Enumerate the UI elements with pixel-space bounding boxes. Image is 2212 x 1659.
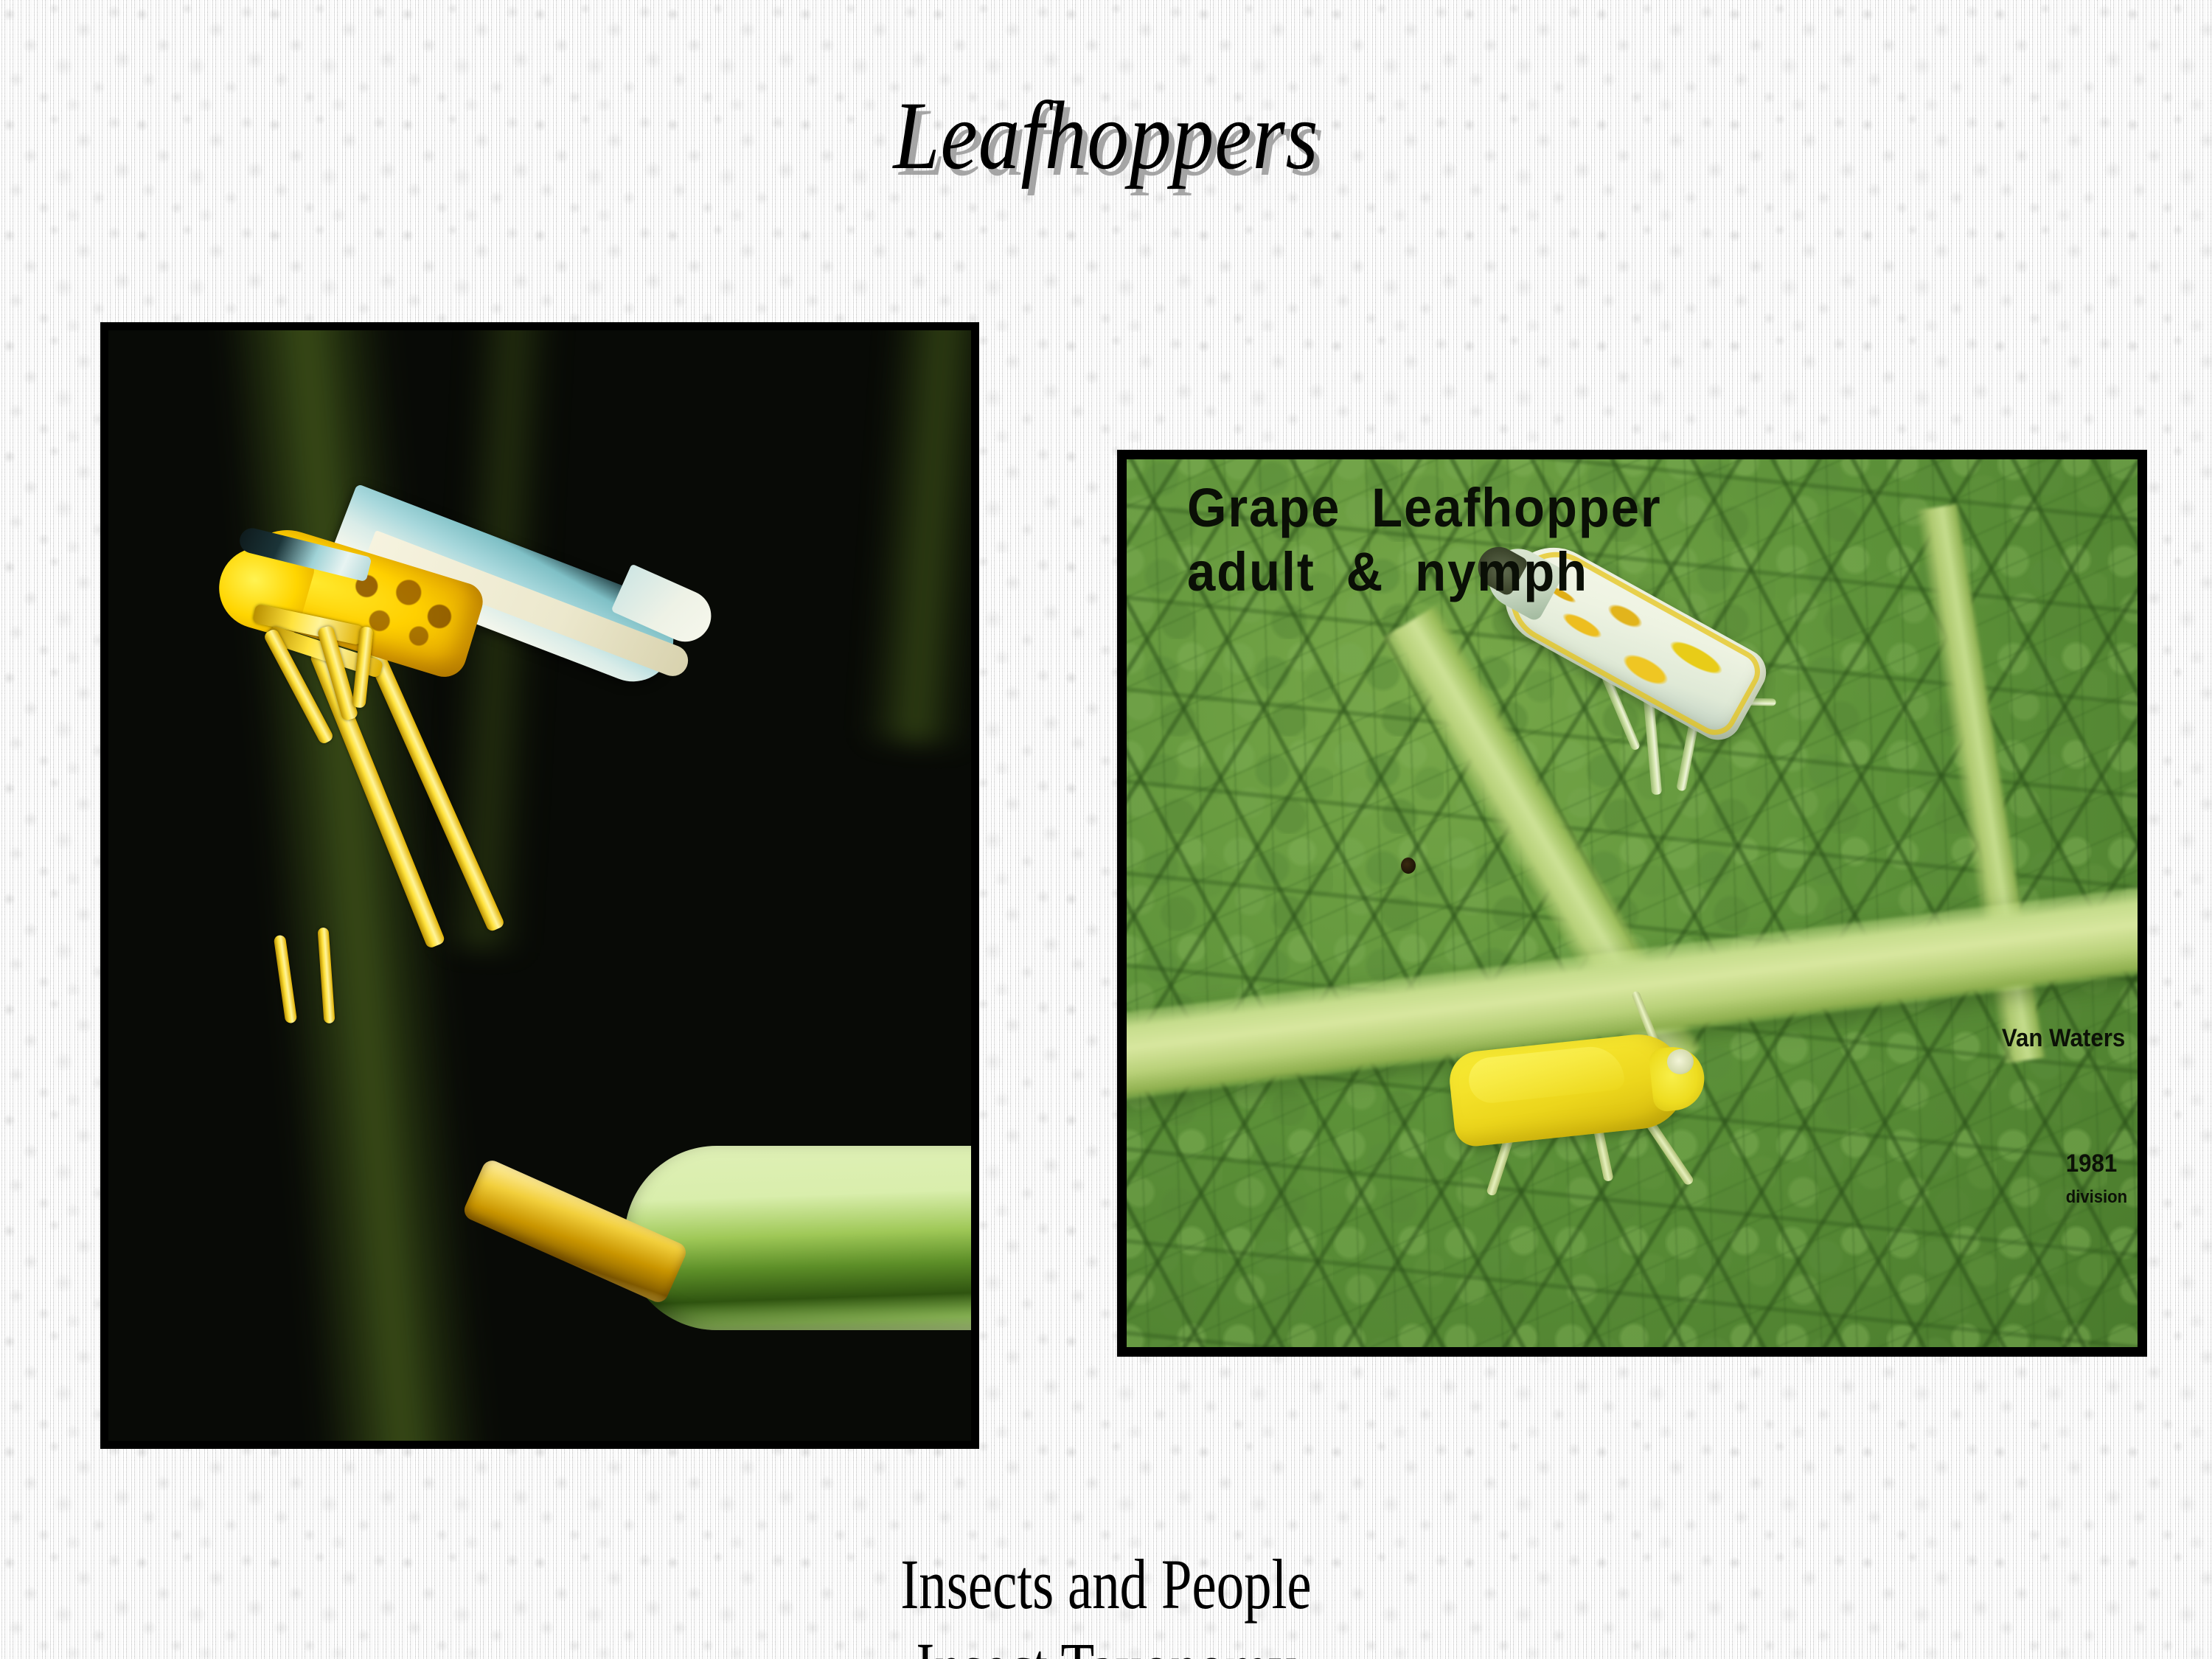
footer-line-course-title: Insects and People [243,1543,1969,1626]
footer-line-topic: Insect Taxonomy [243,1626,1969,1659]
footer-text-block: Insects and People Insect Taxonomy [243,1543,1969,1659]
right-photo-image: Grape Leafhopper adult & nymph Van Water… [1127,459,2138,1347]
plant-stem-shape [860,330,971,746]
slide-canvas: Leafhoppers [0,0,2212,1659]
page-title: Leafhoppers [155,87,2057,184]
photo-credit-division: division [2066,1187,2127,1207]
leaf-dark-speck [1401,858,1416,874]
photo-credit: Van Waters 1981 division [2002,960,2127,1305]
left-photo-image [108,330,971,1441]
photo-credit-year: 1981 [2066,1150,2118,1178]
leaf-bud-shape [625,1146,971,1330]
photo-caption: Grape Leafhopper adult & nymph [1187,476,1661,605]
left-photo-frame [100,322,979,1449]
photo-credit-company: Van Waters [2002,1023,2127,1054]
right-photo-frame: Grape Leafhopper adult & nymph Van Water… [1117,450,2147,1357]
